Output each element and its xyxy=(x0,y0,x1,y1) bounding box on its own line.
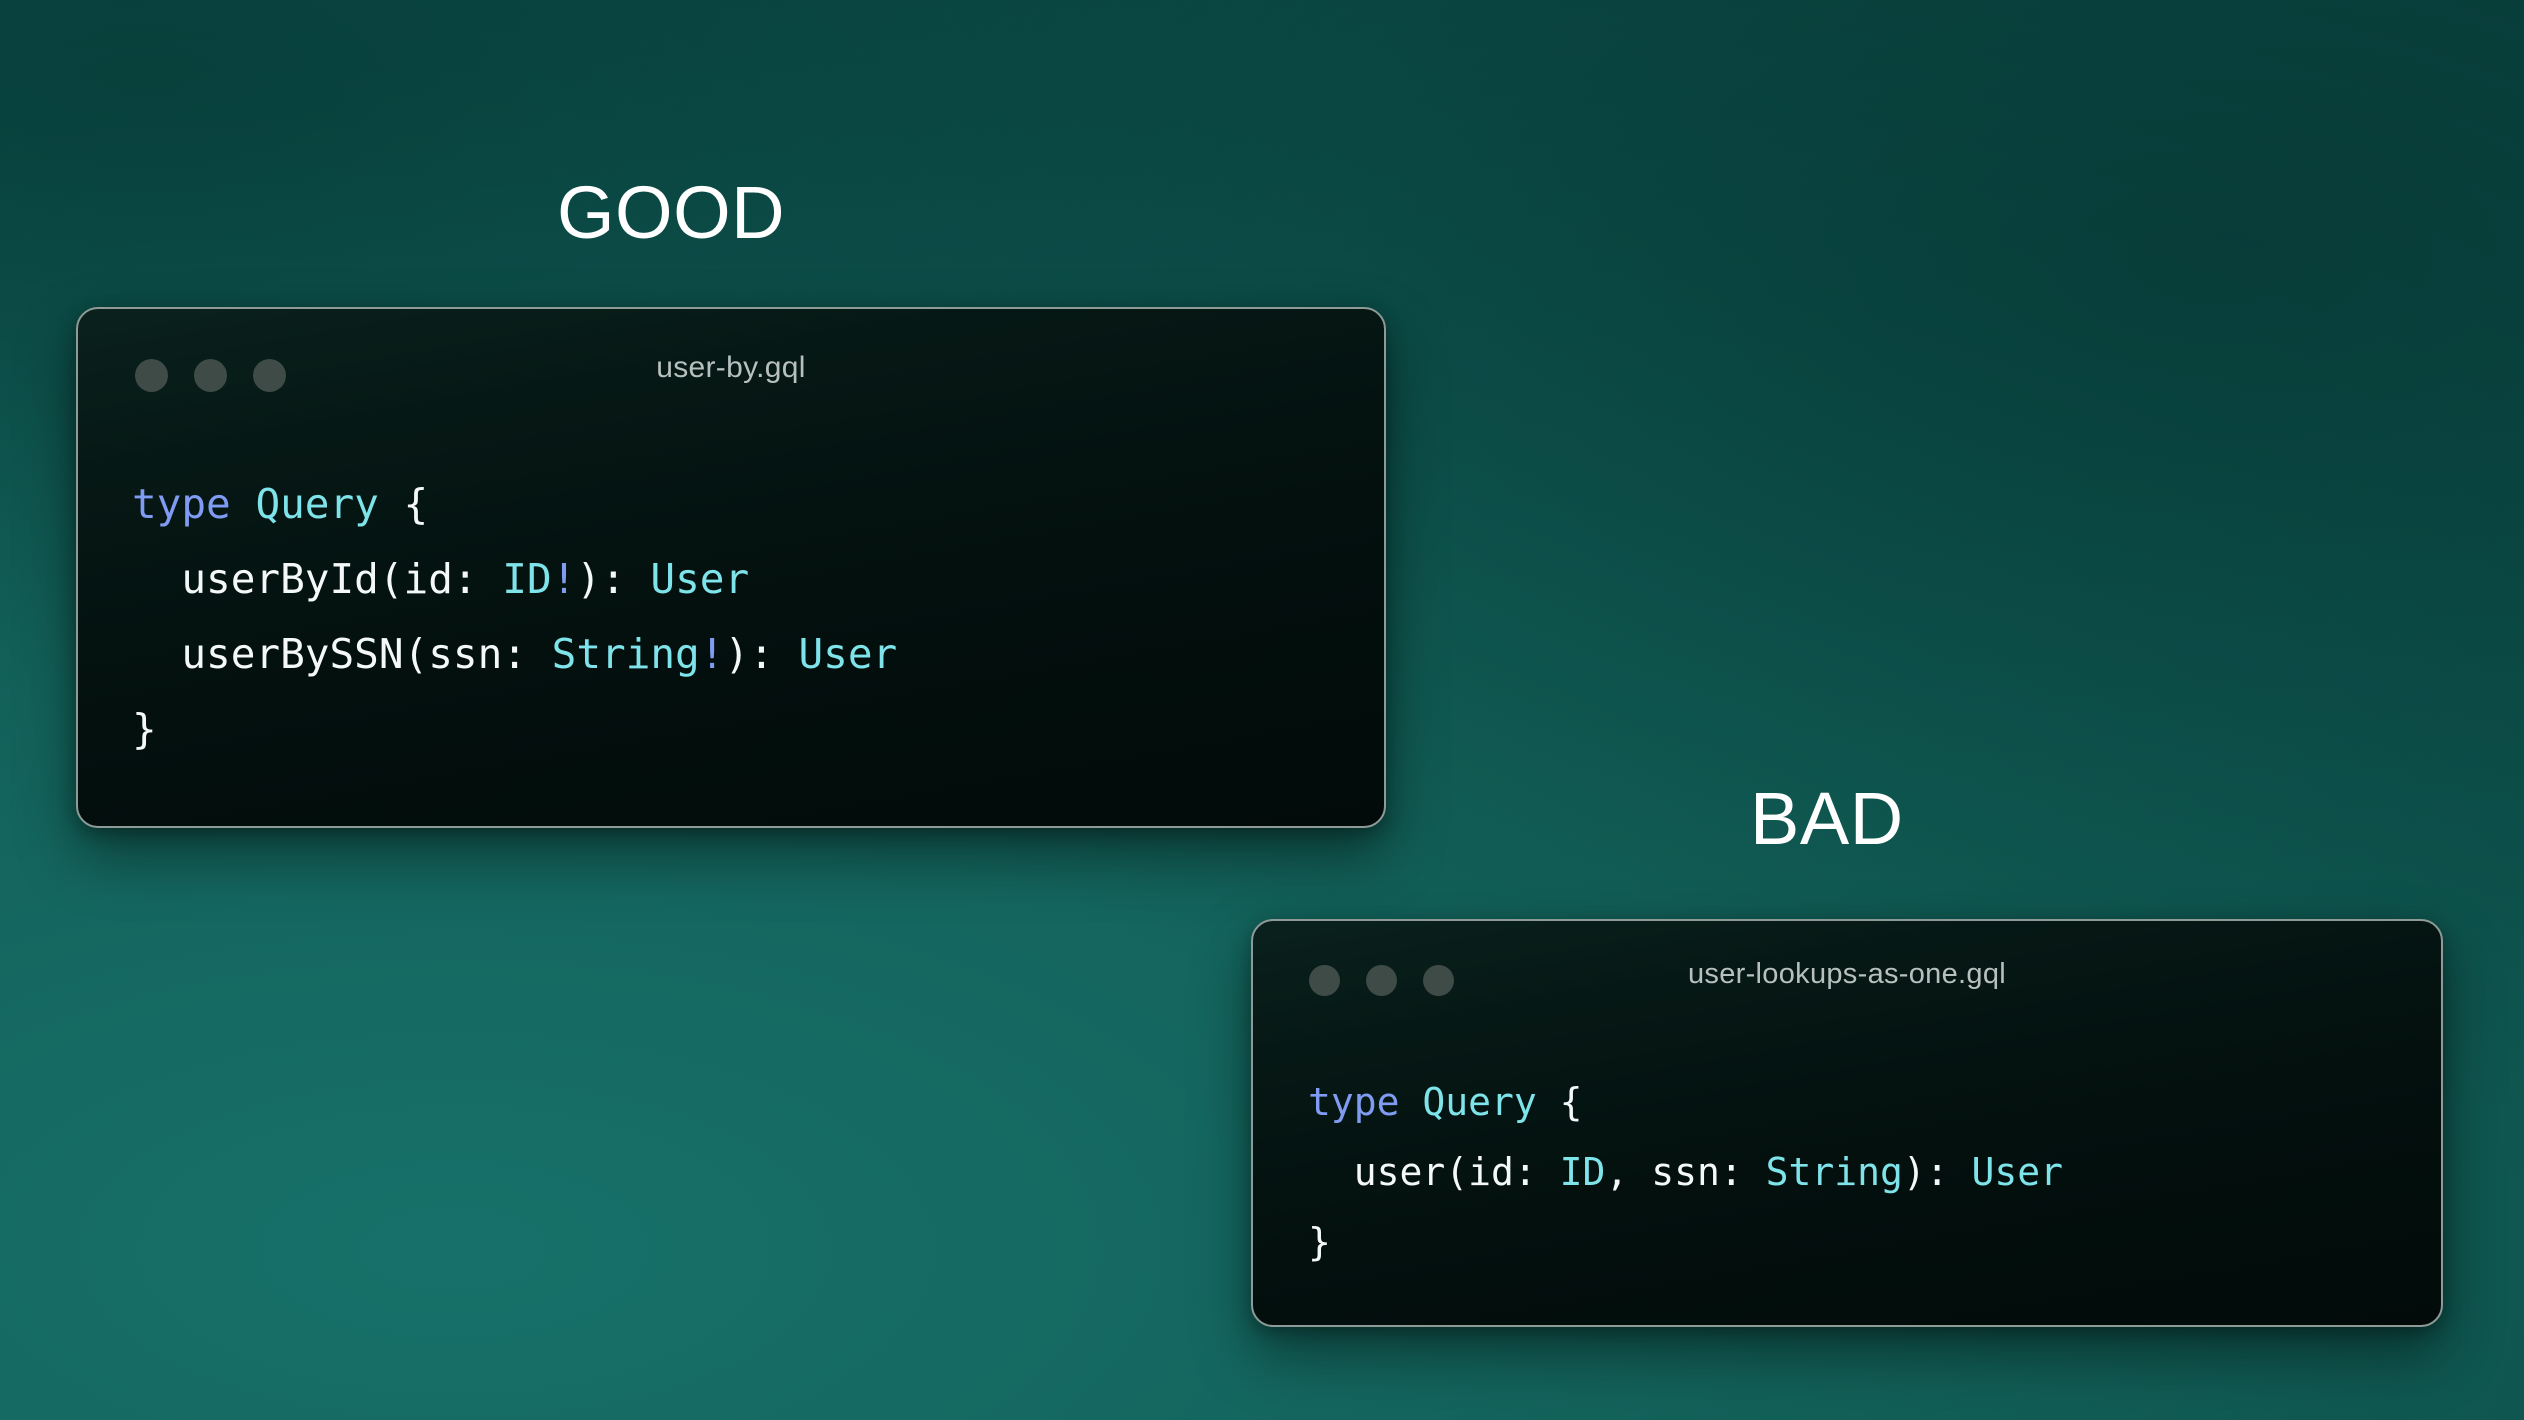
code-window-bad[interactable]: user-lookups-as-one.gql type Query { use… xyxy=(1251,919,2443,1327)
traffic-lights xyxy=(135,359,286,392)
code-token-type: Query xyxy=(255,480,378,528)
maximize-dot-icon[interactable] xyxy=(253,359,286,392)
code-line: type Query { xyxy=(132,467,1384,542)
minimize-dot-icon[interactable] xyxy=(194,359,227,392)
code-token-plain: user(id: xyxy=(1308,1150,1560,1194)
code-token-type: User xyxy=(650,555,749,603)
code-block-good[interactable]: type Query { userById(id: ID!): User use… xyxy=(78,421,1384,767)
code-token-plain: { xyxy=(379,480,428,528)
code-token-plain xyxy=(1400,1080,1423,1124)
code-token-plain: } xyxy=(1308,1220,1331,1264)
code-token-plain: } xyxy=(132,705,157,753)
code-line: userById(id: ID!): User xyxy=(132,542,1384,617)
code-token-plain xyxy=(231,480,256,528)
code-token-type: String xyxy=(1766,1150,1903,1194)
code-token-type: ID xyxy=(502,555,551,603)
code-token-keyword: type xyxy=(1308,1080,1400,1124)
code-line: user(id: ID, ssn: String): User xyxy=(1308,1137,2441,1207)
code-line: userBySSN(ssn: String!): User xyxy=(132,617,1384,692)
code-token-plain: , ssn: xyxy=(1605,1150,1765,1194)
slide-canvas: GOOD user-by.gql type Query { userById(i… xyxy=(0,0,2524,1420)
close-dot-icon[interactable] xyxy=(135,359,168,392)
code-token-type: Query xyxy=(1422,1080,1536,1124)
code-token-type: User xyxy=(1972,1150,2064,1194)
code-token-type: ID xyxy=(1560,1150,1606,1194)
code-window-good[interactable]: user-by.gql type Query { userById(id: ID… xyxy=(76,307,1386,828)
code-token-type: String xyxy=(552,630,700,678)
maximize-dot-icon[interactable] xyxy=(1423,965,1454,996)
code-token-type: User xyxy=(799,630,898,678)
traffic-lights xyxy=(1309,965,1454,996)
bad-example-label: BAD xyxy=(1750,782,1904,856)
window-titlebar: user-by.gql xyxy=(78,309,1384,421)
good-example-label: GOOD xyxy=(557,176,785,250)
code-token-plain: ): xyxy=(576,555,650,603)
close-dot-icon[interactable] xyxy=(1309,965,1340,996)
code-token-plain: userBySSN(ssn: xyxy=(132,630,552,678)
code-token-plain: userById(id: xyxy=(132,555,502,603)
code-token-keyword: type xyxy=(132,480,231,528)
code-token-plain: ): xyxy=(1903,1150,1972,1194)
code-token-keyword: ! xyxy=(700,630,725,678)
window-titlebar: user-lookups-as-one.gql xyxy=(1253,921,2441,1025)
minimize-dot-icon[interactable] xyxy=(1366,965,1397,996)
code-block-bad[interactable]: type Query { user(id: ID, ssn: String): … xyxy=(1253,1025,2441,1277)
code-line: type Query { xyxy=(1308,1067,2441,1137)
code-line: } xyxy=(1308,1207,2441,1277)
code-token-plain: ): xyxy=(724,630,798,678)
code-token-keyword: ! xyxy=(552,555,577,603)
code-token-plain: { xyxy=(1537,1080,1583,1124)
code-line: } xyxy=(132,692,1384,767)
